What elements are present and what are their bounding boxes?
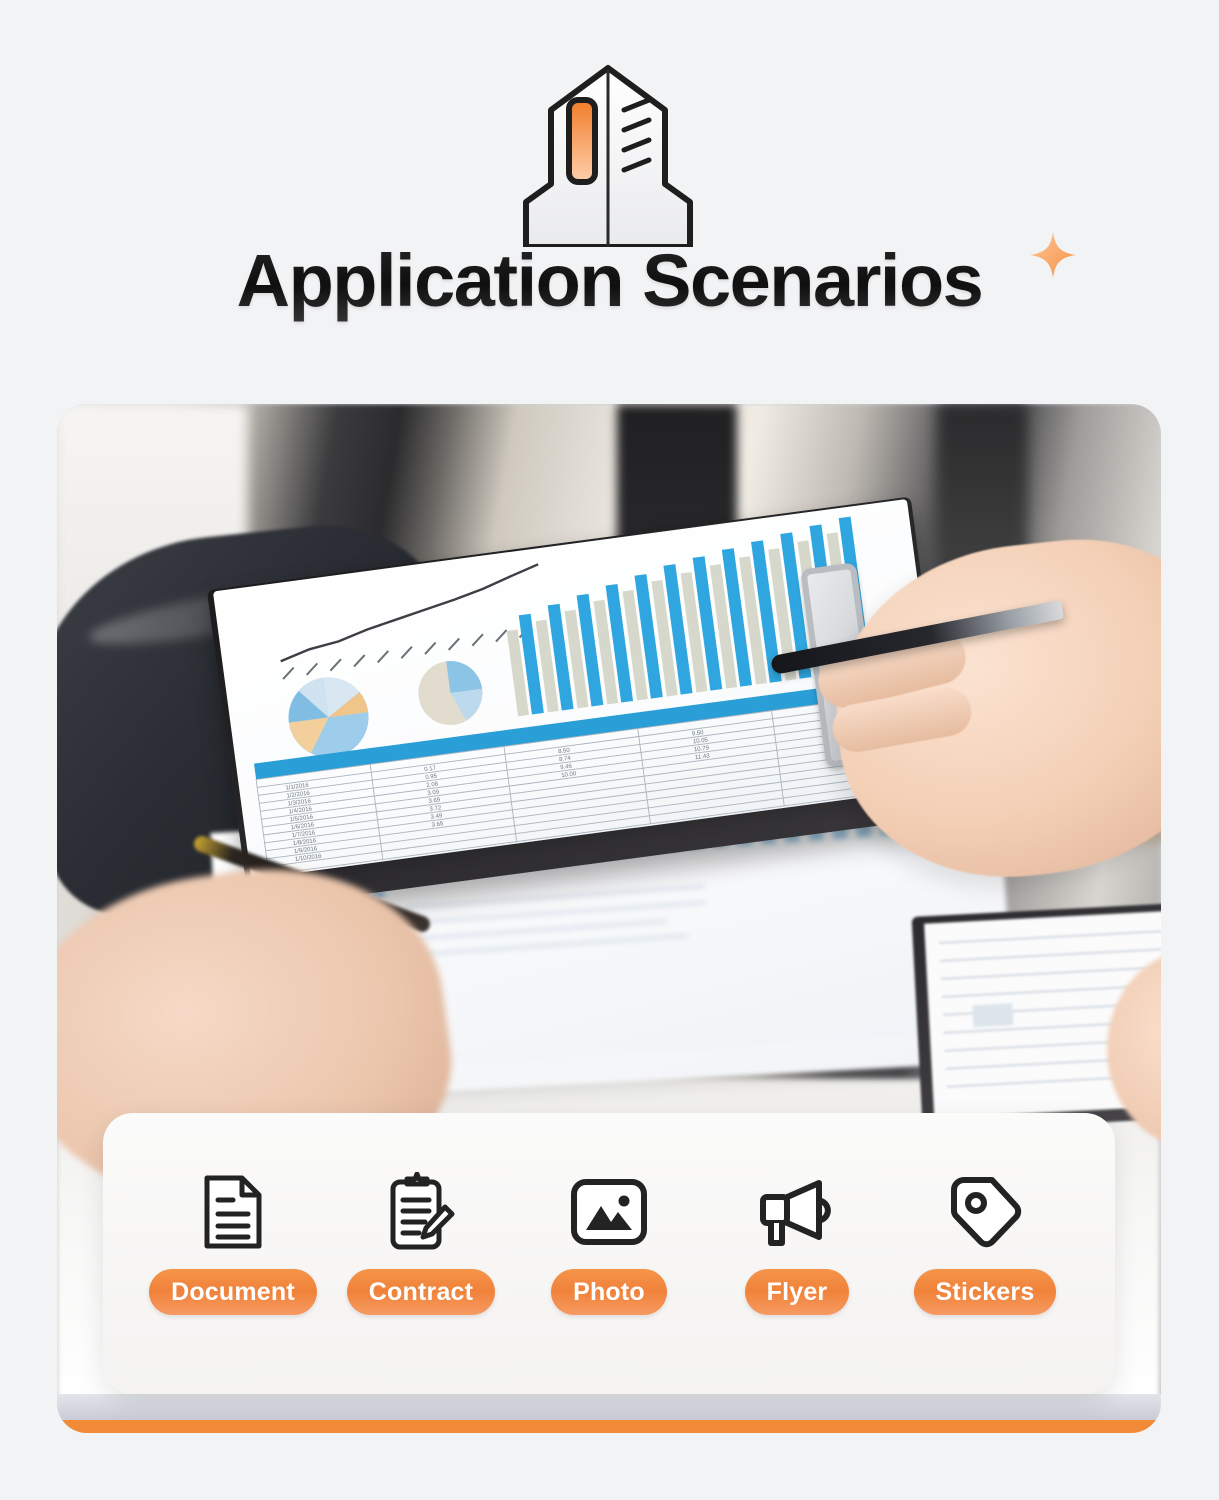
orange-accent-bar (57, 1420, 1161, 1433)
badge-label-document[interactable]: Document (149, 1269, 317, 1315)
sparkle-icon (1026, 228, 1080, 287)
scenario-item-contract[interactable]: Contract (331, 1169, 511, 1315)
svg-text:11.43: 11.43 (695, 753, 711, 761)
megaphone-icon (757, 1169, 837, 1255)
scenario-item-stickers[interactable]: Stickers (895, 1169, 1075, 1315)
scenario-item-photo[interactable]: Photo (519, 1169, 699, 1315)
svg-text:10.00: 10.00 (561, 771, 577, 779)
scenario-badges-card: Document Contract (103, 1113, 1115, 1394)
document-icon (202, 1169, 264, 1255)
image-icon (570, 1169, 648, 1255)
page-title: Application Scenarios (237, 238, 983, 323)
card-base-band (57, 1394, 1161, 1420)
scenario-item-flyer[interactable]: Flyer (707, 1169, 887, 1315)
tag-icon (948, 1169, 1022, 1255)
svg-text:10.79: 10.79 (694, 745, 710, 753)
building-skyscraper-icon (497, 62, 719, 247)
badge-label-flyer[interactable]: Flyer (745, 1269, 850, 1315)
badge-label-photo[interactable]: Photo (551, 1269, 667, 1315)
badge-label-stickers[interactable]: Stickers (914, 1269, 1057, 1315)
svg-text:10.05: 10.05 (693, 737, 709, 745)
page-header: Application Scenarios (0, 0, 1219, 390)
badge-label-contract[interactable]: Contract (347, 1269, 495, 1315)
scenario-badges-row: Document Contract (143, 1169, 1075, 1315)
clipboard-pencil-icon (387, 1169, 455, 1255)
scenario-item-document[interactable]: Document (143, 1169, 323, 1315)
